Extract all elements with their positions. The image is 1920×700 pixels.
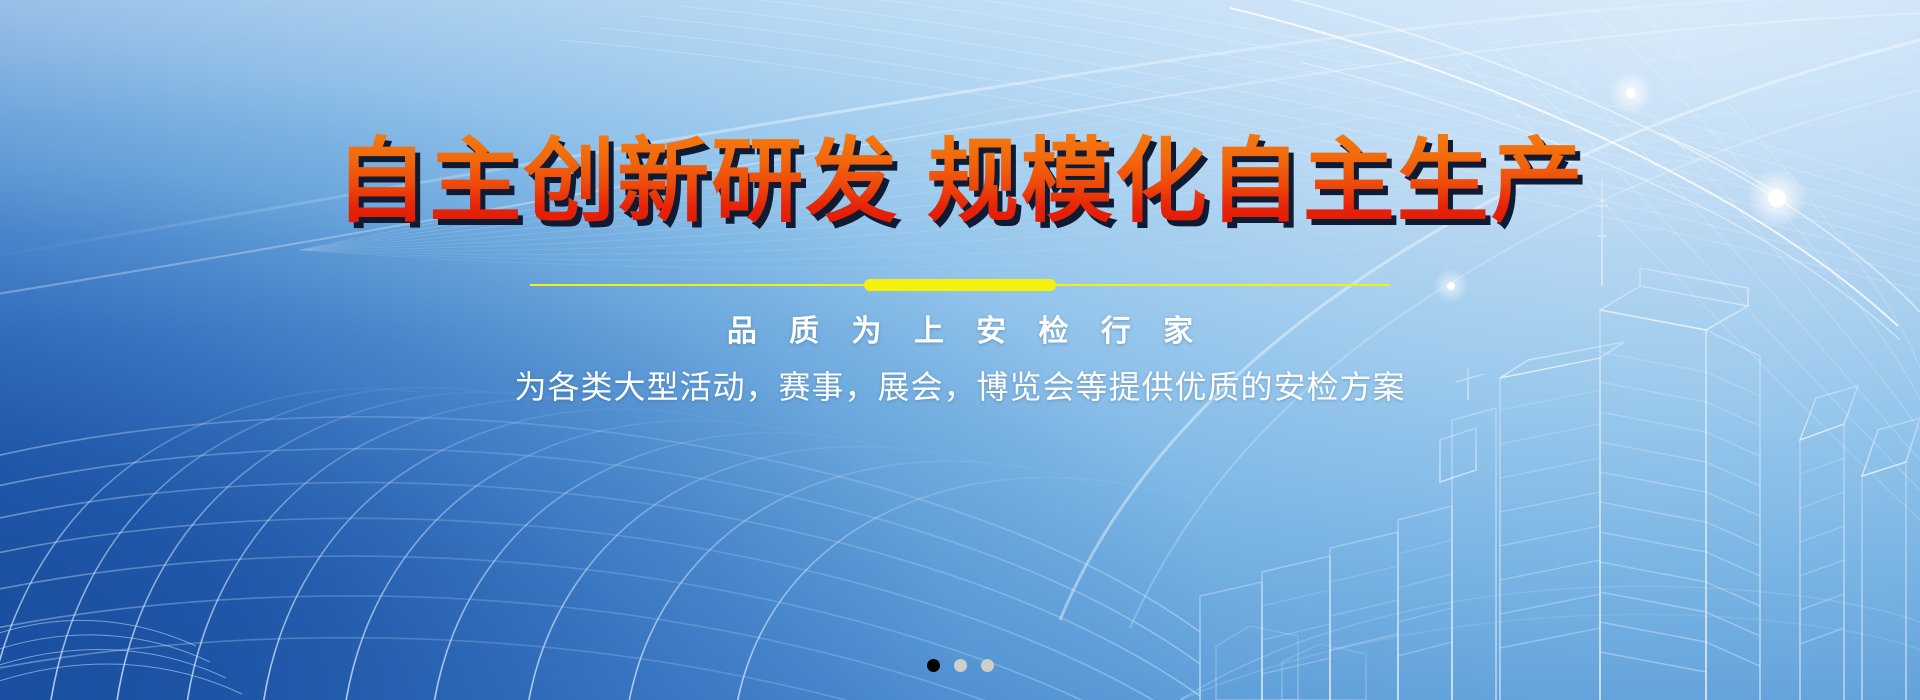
headline-text: 自主创新研发 规模化自主生产 [335, 131, 1585, 233]
carousel-dot-3[interactable] [981, 659, 994, 672]
carousel-dots[interactable] [0, 659, 1920, 672]
subtitle-primary: 品 质 为 上 安 检 行 家 [0, 306, 1920, 350]
page-title: 自主创新研发 规模化自主生产 自主创新研发 规模化自主生产 [335, 134, 1585, 232]
hero-banner: 自主创新研发 规模化自主生产 自主创新研发 规模化自主生产 品 质 为 上 安 … [0, 0, 1920, 700]
headline-container: 自主创新研发 规模化自主生产 自主创新研发 规模化自主生产 [0, 72, 1920, 293]
carousel-dot-2[interactable] [954, 659, 967, 672]
divider-center-bar [864, 279, 1056, 291]
carousel-dot-1[interactable] [927, 659, 940, 672]
subtitle-secondary: 为各类大型活动，赛事，展会，博览会等提供优质的安检方案 [0, 362, 1920, 408]
yellow-divider [530, 278, 1390, 292]
